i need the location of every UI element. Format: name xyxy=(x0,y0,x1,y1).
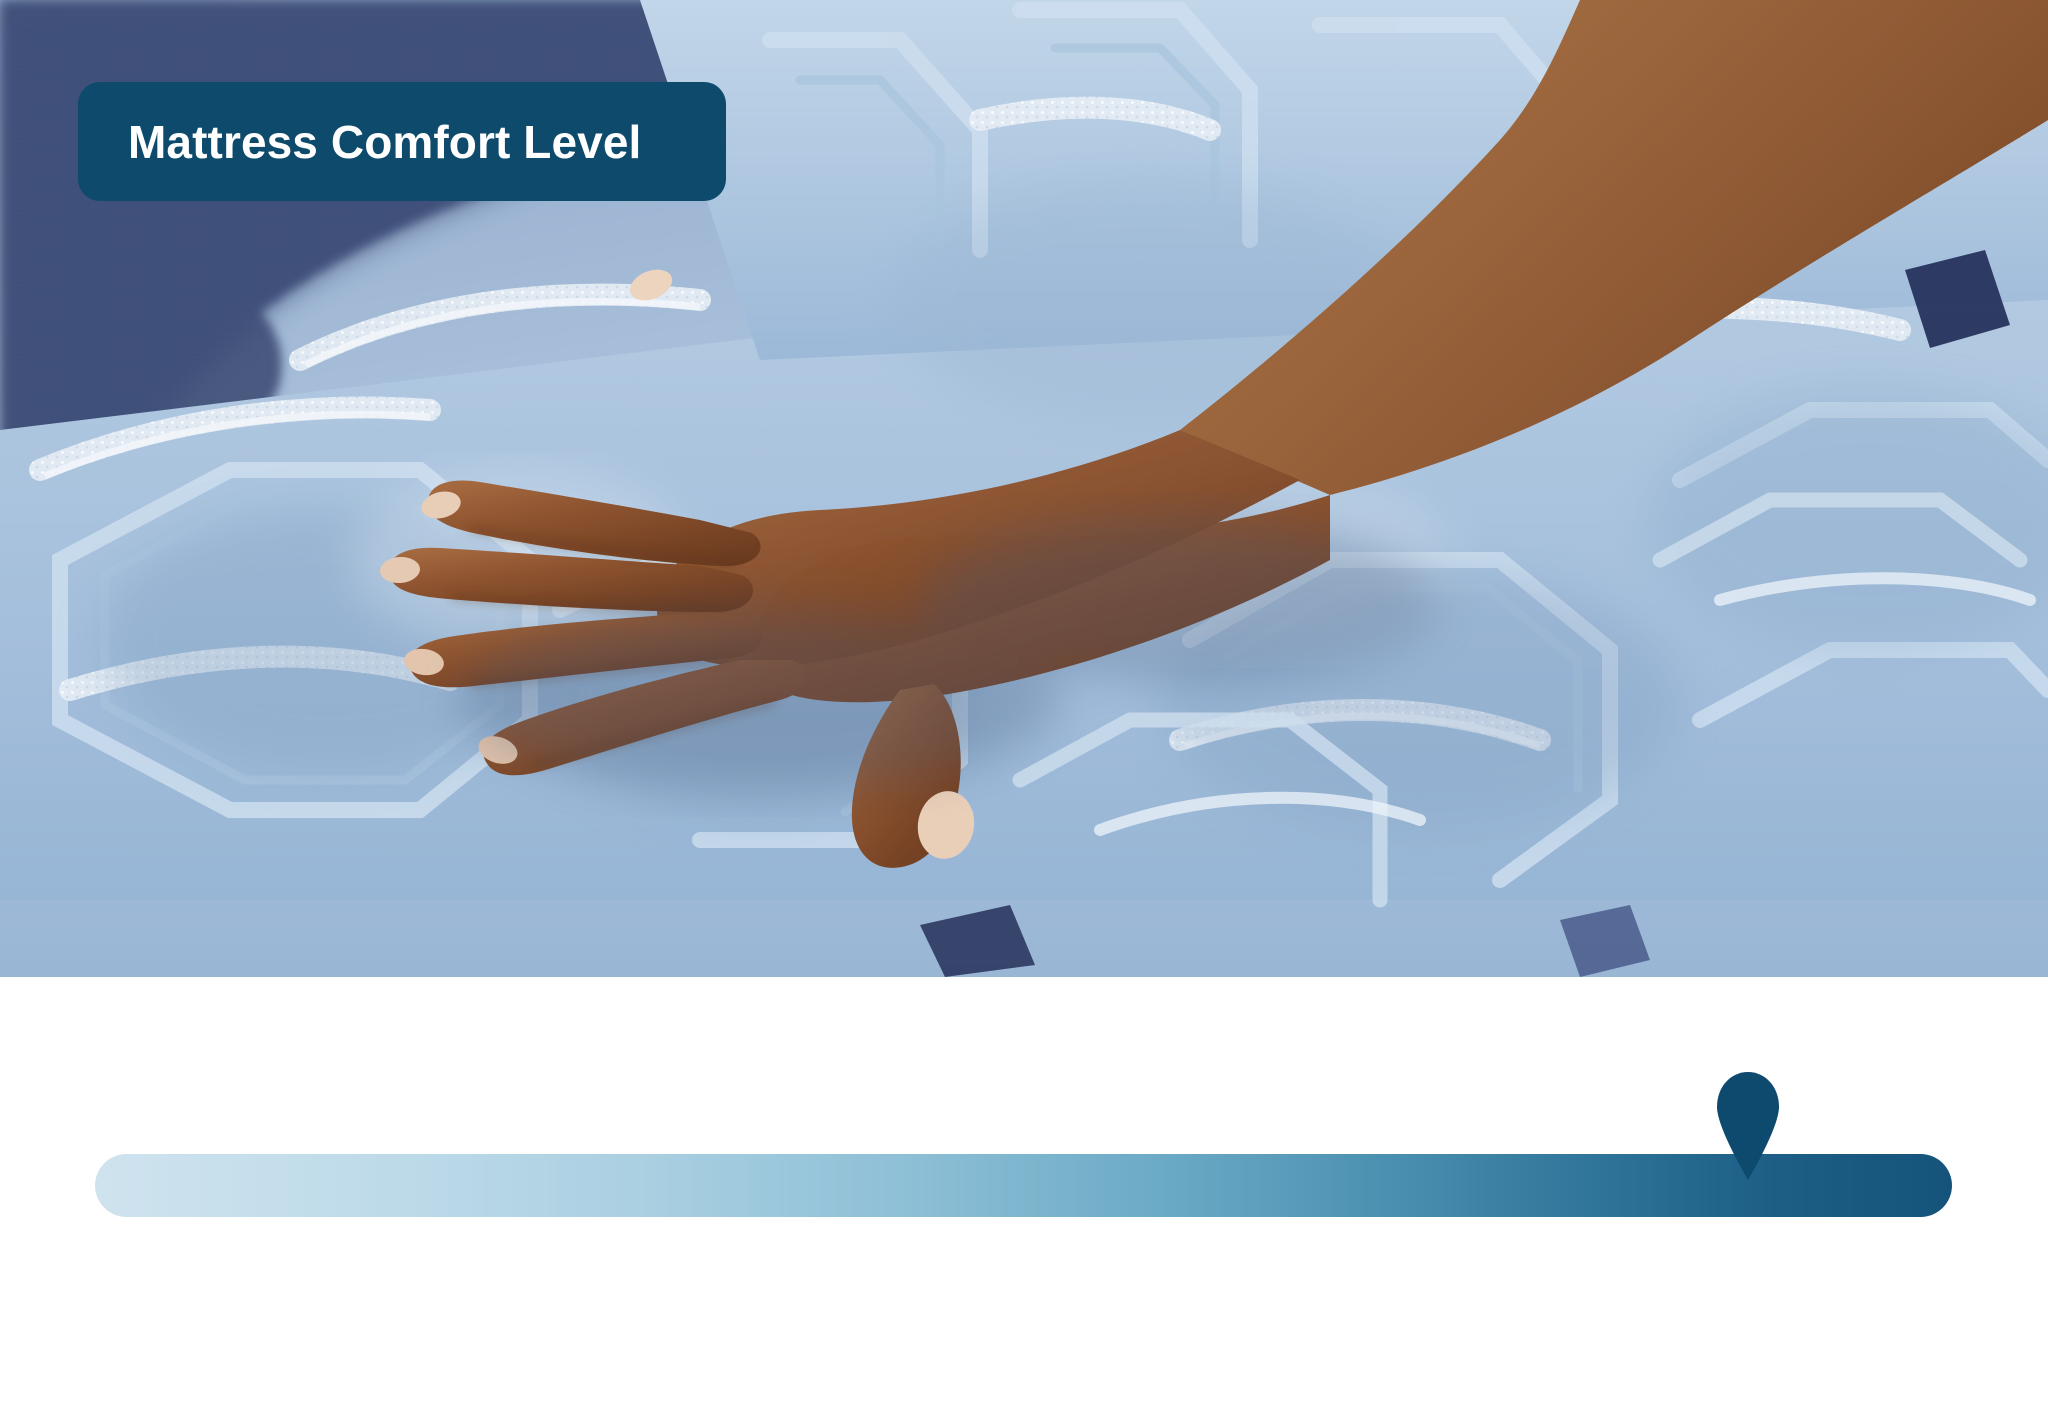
comfort-scale: Ultra Plush Plush Cushion Firm Firm xyxy=(0,977,2048,1403)
comfort-level-marker-pin[interactable] xyxy=(1711,1070,1785,1180)
mattress-photo: Mattress Comfort Level xyxy=(0,0,2048,977)
title-badge: Mattress Comfort Level xyxy=(78,82,726,201)
comfort-scale-track[interactable] xyxy=(95,1154,1952,1217)
map-pin-icon xyxy=(1711,1070,1785,1180)
page-title: Mattress Comfort Level xyxy=(128,119,641,165)
comfort-level-graphic: Mattress Comfort Level Ultra Plush Plush… xyxy=(0,0,2048,1403)
